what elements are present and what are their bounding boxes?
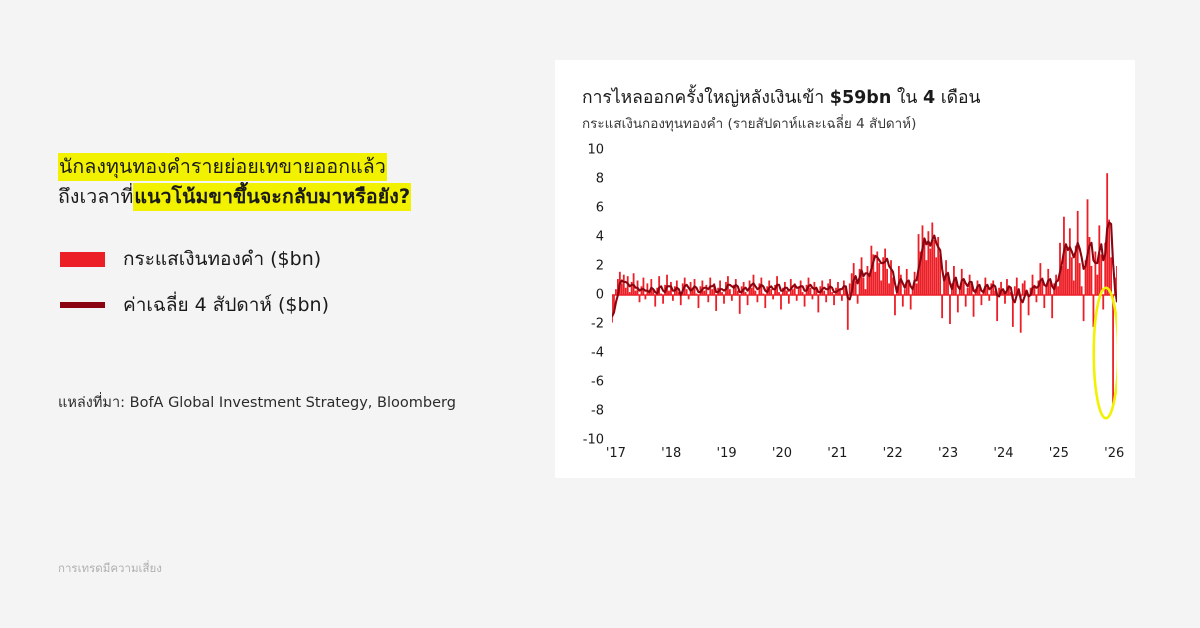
chart-title-prefix: การไหลออกครั้งใหญ่หลังเงินเข้า [582, 88, 830, 108]
chart-bar [764, 295, 766, 308]
chart-bar [941, 295, 943, 318]
chart-bar [686, 289, 688, 295]
chart-bar [792, 289, 794, 295]
x-tick-label: '24 [993, 446, 1013, 461]
chart-title: การไหลออกครั้งใหญ่หลังเงินเข้า $59bn ใน … [582, 83, 981, 111]
chart-bar [847, 295, 849, 330]
chart-title-mid: ใน [891, 88, 923, 108]
x-tick-label: '21 [827, 446, 847, 461]
chart-bar [1057, 286, 1059, 295]
chart-bar [949, 295, 951, 324]
bars-series [612, 173, 1117, 404]
chart-bar [857, 295, 859, 304]
chart-bar [731, 295, 733, 301]
risk-disclaimer: การเทรดมีความเสี่ยง [58, 560, 162, 578]
infographic-page: นักลงทุนทองคำรายย่อยเทขายออกแล้ว ถึงเวลา… [0, 0, 1200, 628]
chart-bar [910, 295, 912, 310]
chart-bar [1096, 275, 1098, 295]
chart-bar [878, 263, 880, 295]
legend-label-average: ค่าเฉลี่ย 4 สัปดาห์ ($bn) [123, 290, 329, 320]
chart-bar [833, 295, 835, 305]
chart-bar [615, 289, 617, 295]
chart-bar [1014, 286, 1016, 295]
chart-bar [1069, 228, 1071, 295]
chart-bar [855, 281, 857, 296]
chart-bar [1077, 211, 1079, 295]
chart-bar [680, 295, 682, 305]
headline-line-2: ถึงเวลาที่แนวโน้มขาขึ้นจะกลับมาหรือยัง? [58, 182, 528, 212]
chart-bar [933, 240, 935, 295]
source-note: แหล่งที่มา: BofA Global Investment Strat… [58, 391, 456, 414]
y-tick-label: -6 [574, 375, 604, 390]
chart-bar [780, 295, 782, 310]
y-tick-label: -4 [574, 346, 604, 361]
legend-label-flows: กระแสเงินทองคำ ($bn) [123, 244, 321, 274]
chart-bar [705, 285, 707, 295]
headline-line-2-highlight: แนวโน้มขาขึ้นจะกลับมาหรือยัง? [133, 183, 411, 211]
chart-bar [874, 272, 876, 295]
chart-bar [1108, 220, 1110, 295]
chart-bar [612, 295, 613, 323]
chart-bar [1110, 257, 1112, 295]
chart-bar [1071, 257, 1073, 295]
chart-bar [1036, 295, 1038, 302]
chart-bar [996, 295, 998, 321]
chart-bar [1028, 295, 1030, 315]
chart-bar [739, 295, 741, 314]
y-tick-label: -2 [574, 317, 604, 332]
chart-bar [1091, 266, 1093, 295]
chart-bar [751, 288, 753, 295]
chart-bar [1100, 254, 1102, 295]
y-tick-label: 0 [574, 288, 604, 303]
chart-bar [965, 295, 967, 307]
chart-bar [625, 288, 627, 295]
x-axis-labels: '17'18'19'20'21'22'23'24'25'26 [612, 446, 1117, 470]
y-tick-label: 2 [574, 259, 604, 274]
headline-line-1-text: นักลงทุนทองคำรายย่อยเทขายออกแล้ว [58, 153, 387, 181]
chart-bar [973, 295, 975, 317]
legend: กระแสเงินทองคำ ($bn) ค่าเฉลี่ย 4 สัปดาห์… [60, 236, 480, 328]
chart-bar [817, 295, 819, 312]
chart-bar [865, 289, 867, 295]
headline: นักลงทุนทองคำรายย่อยเทขายออกแล้ว ถึงเวลา… [58, 152, 528, 212]
chart-svg [612, 150, 1117, 440]
chart-bar [931, 223, 933, 296]
chart-card: การไหลออกครั้งใหญ่หลังเงินเข้า $59bn ใน … [555, 60, 1135, 478]
chart-subtitle: กระแสเงินกองทุนทองคำ (รายสัปดาห์และเฉลี่… [582, 112, 916, 134]
chart-bar [1022, 283, 1024, 295]
chart-bar [770, 289, 772, 295]
chart-bar [723, 295, 725, 304]
chart-title-suffix: เดือน [935, 88, 980, 108]
x-tick-label: '17 [606, 446, 626, 461]
chart-bar [1004, 295, 1006, 304]
chart-bar [900, 275, 902, 295]
legend-swatch-line-icon [60, 302, 105, 308]
chart-bar [662, 295, 664, 304]
chart-bar [1045, 286, 1047, 295]
chart-bar [1043, 295, 1045, 308]
chart-bar [643, 278, 645, 295]
chart-bar [804, 295, 806, 307]
chart-bar [747, 295, 749, 305]
chart-bar [729, 289, 731, 295]
chart-bar [666, 275, 668, 295]
chart-bar [639, 295, 641, 302]
x-tick-label: '19 [717, 446, 737, 461]
chart-bar [943, 281, 945, 296]
chart-bar [992, 281, 994, 296]
chart-bar [654, 295, 656, 307]
chart-bar [894, 295, 896, 315]
x-tick-label: '20 [772, 446, 792, 461]
y-tick-label: 8 [574, 172, 604, 187]
x-tick-label: '23 [938, 446, 958, 461]
legend-item-flows: กระแสเงินทองคำ ($bn) [60, 236, 480, 282]
y-tick-label: -8 [574, 404, 604, 419]
plot-area [612, 150, 1117, 440]
chart-bar [1065, 249, 1067, 295]
chart-bar [837, 282, 839, 295]
chart-bar [890, 260, 892, 295]
headline-line-1: นักลงทุนทองคำรายย่อยเทขายออกแล้ว [58, 152, 528, 182]
y-tick-label: 4 [574, 230, 604, 245]
chart-bar [922, 225, 924, 295]
chart-bar [1102, 295, 1104, 310]
chart-bar [880, 281, 882, 296]
chart-bar [719, 281, 721, 296]
chart-bar [902, 295, 904, 307]
chart-title-bold-months: 4 [923, 88, 935, 108]
chart-bar [926, 260, 928, 295]
chart-bar [888, 283, 890, 295]
chart-bar [711, 289, 713, 295]
chart-bar [825, 295, 827, 302]
chart-bar [1112, 295, 1114, 404]
chart-bar [707, 295, 709, 302]
chart-bar [1083, 295, 1085, 321]
chart-bar [646, 283, 648, 295]
chart-bar [757, 295, 759, 302]
chart-bar [1079, 263, 1081, 295]
chart-bar [1073, 281, 1075, 296]
chart-bar [810, 288, 812, 295]
chart-bar [916, 283, 918, 295]
x-tick-label: '18 [661, 446, 681, 461]
chart-bar [867, 266, 869, 295]
chart-bar [623, 275, 625, 295]
chart-bar [869, 275, 871, 295]
y-tick-label: 10 [574, 143, 604, 158]
chart-bar [841, 295, 843, 301]
chart-bar [988, 295, 990, 301]
chart-bar [1094, 252, 1096, 296]
chart-bar [788, 295, 790, 304]
chart-bar [715, 295, 717, 311]
x-tick-label: '25 [1049, 446, 1069, 461]
chart-bar [924, 243, 926, 295]
x-tick-label: '26 [1104, 446, 1124, 461]
chart-bar [935, 257, 937, 295]
y-tick-label: 6 [574, 201, 604, 216]
headline-line-2-plain: ถึงเวลาที่ [58, 185, 133, 208]
legend-swatch-bar-icon [60, 252, 105, 267]
left-panel: นักลงทุนทองคำรายย่อยเทขายออกแล้ว ถึงเวลา… [0, 0, 555, 628]
chart-bar [621, 283, 623, 295]
chart-bar [698, 295, 700, 308]
chart-bar [863, 278, 865, 295]
chart-bar [796, 295, 798, 301]
chart-title-bold-amount: $59bn [830, 88, 892, 108]
chart-bar [886, 269, 888, 295]
chart-bar [672, 295, 674, 301]
chart-bar [1051, 295, 1053, 318]
chart-bar [957, 295, 959, 312]
y-axis-labels: 1086420-2-4-6-8-10 [570, 150, 604, 440]
chart-bar [904, 289, 906, 295]
chart-bar [967, 288, 969, 295]
chart-bar [981, 295, 983, 305]
chart-bar [1067, 269, 1069, 295]
x-tick-label: '22 [883, 446, 903, 461]
chart-bar [884, 249, 886, 295]
chart-bar [929, 249, 931, 295]
chart-bar [1081, 286, 1083, 295]
y-tick-label: -10 [574, 433, 604, 448]
legend-item-average: ค่าเฉลี่ย 4 สัปดาห์ ($bn) [60, 282, 480, 328]
